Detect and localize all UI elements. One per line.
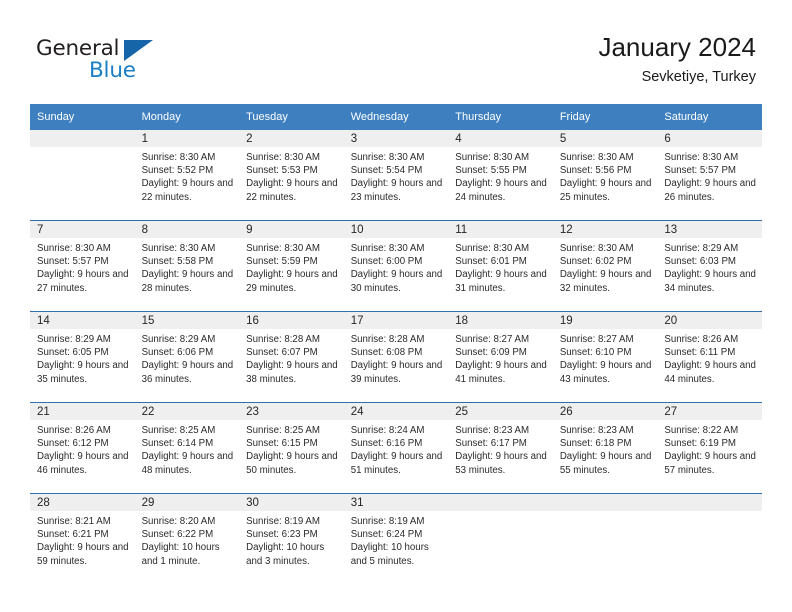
daylight-text: Daylight: 9 hours and 43 minutes.	[560, 359, 652, 385]
calendar-day-cell[interactable]: 23Sunrise: 8:25 AMSunset: 6:15 PMDayligh…	[239, 403, 344, 494]
day-details: Sunrise: 8:22 AMSunset: 6:19 PMDaylight:…	[657, 420, 762, 477]
day-cell-inner: 8Sunrise: 8:30 AMSunset: 5:58 PMDaylight…	[135, 221, 240, 311]
day-cell-inner: 15Sunrise: 8:29 AMSunset: 6:06 PMDayligh…	[135, 312, 240, 402]
sunrise-text: Sunrise: 8:30 AM	[664, 151, 756, 164]
sunset-text: Sunset: 6:22 PM	[142, 528, 234, 541]
daylight-text: Daylight: 9 hours and 26 minutes.	[664, 177, 756, 203]
day-number: 22	[135, 403, 240, 420]
sunrise-text: Sunrise: 8:30 AM	[142, 151, 234, 164]
calendar-week-row: 14Sunrise: 8:29 AMSunset: 6:05 PMDayligh…	[30, 312, 762, 403]
sunrise-text: Sunrise: 8:30 AM	[455, 242, 547, 255]
day-details: Sunrise: 8:30 AMSunset: 5:52 PMDaylight:…	[135, 147, 240, 204]
daylight-text: Daylight: 9 hours and 24 minutes.	[455, 177, 547, 203]
daylight-text: Daylight: 9 hours and 32 minutes.	[560, 268, 652, 294]
sunset-text: Sunset: 5:57 PM	[664, 164, 756, 177]
day-number: 17	[344, 312, 449, 329]
sunset-text: Sunset: 6:05 PM	[37, 346, 129, 359]
calendar-day-cell[interactable]: 18Sunrise: 8:27 AMSunset: 6:09 PMDayligh…	[448, 312, 553, 403]
sunset-text: Sunset: 5:52 PM	[142, 164, 234, 177]
daylight-text: Daylight: 9 hours and 22 minutes.	[142, 177, 234, 203]
sunset-text: Sunset: 6:09 PM	[455, 346, 547, 359]
calendar-day-cell[interactable]: 24Sunrise: 8:24 AMSunset: 6:16 PMDayligh…	[344, 403, 449, 494]
day-cell-inner	[657, 494, 762, 584]
calendar-day-cell[interactable]: 17Sunrise: 8:28 AMSunset: 6:08 PMDayligh…	[344, 312, 449, 403]
calendar-day-cell[interactable]: 29Sunrise: 8:20 AMSunset: 6:22 PMDayligh…	[135, 494, 240, 585]
calendar-day-cell[interactable]: 25Sunrise: 8:23 AMSunset: 6:17 PMDayligh…	[448, 403, 553, 494]
day-cell-inner: 6Sunrise: 8:30 AMSunset: 5:57 PMDaylight…	[657, 130, 762, 220]
day-details: Sunrise: 8:25 AMSunset: 6:15 PMDaylight:…	[239, 420, 344, 477]
calendar-day-cell[interactable]: 9Sunrise: 8:30 AMSunset: 5:59 PMDaylight…	[239, 221, 344, 312]
calendar-week-row: 21Sunrise: 8:26 AMSunset: 6:12 PMDayligh…	[30, 403, 762, 494]
day-cell-inner: 11Sunrise: 8:30 AMSunset: 6:01 PMDayligh…	[448, 221, 553, 311]
sunset-text: Sunset: 6:07 PM	[246, 346, 338, 359]
day-number: 4	[448, 130, 553, 147]
daylight-text: Daylight: 10 hours and 3 minutes.	[246, 541, 338, 567]
calendar-day-cell[interactable]: 6Sunrise: 8:30 AMSunset: 5:57 PMDaylight…	[657, 130, 762, 221]
sunrise-text: Sunrise: 8:28 AM	[351, 333, 443, 346]
day-details: Sunrise: 8:29 AMSunset: 6:05 PMDaylight:…	[30, 329, 135, 386]
sunset-text: Sunset: 6:15 PM	[246, 437, 338, 450]
day-details: Sunrise: 8:25 AMSunset: 6:14 PMDaylight:…	[135, 420, 240, 477]
day-cell-inner: 27Sunrise: 8:22 AMSunset: 6:19 PMDayligh…	[657, 403, 762, 493]
day-cell-inner: 29Sunrise: 8:20 AMSunset: 6:22 PMDayligh…	[135, 494, 240, 584]
day-details: Sunrise: 8:23 AMSunset: 6:18 PMDaylight:…	[553, 420, 658, 477]
day-cell-inner: 21Sunrise: 8:26 AMSunset: 6:12 PMDayligh…	[30, 403, 135, 493]
day-details: Sunrise: 8:30 AMSunset: 6:01 PMDaylight:…	[448, 238, 553, 295]
day-details: Sunrise: 8:30 AMSunset: 5:55 PMDaylight:…	[448, 147, 553, 204]
day-details: Sunrise: 8:27 AMSunset: 6:09 PMDaylight:…	[448, 329, 553, 386]
calendar-day-cell[interactable]: 1Sunrise: 8:30 AMSunset: 5:52 PMDaylight…	[135, 130, 240, 221]
sunrise-text: Sunrise: 8:30 AM	[351, 242, 443, 255]
day-cell-inner: 30Sunrise: 8:19 AMSunset: 6:23 PMDayligh…	[239, 494, 344, 584]
daylight-text: Daylight: 9 hours and 48 minutes.	[142, 450, 234, 476]
sunset-text: Sunset: 6:16 PM	[351, 437, 443, 450]
calendar-day-cell[interactable]: 22Sunrise: 8:25 AMSunset: 6:14 PMDayligh…	[135, 403, 240, 494]
day-details: Sunrise: 8:30 AMSunset: 6:00 PMDaylight:…	[344, 238, 449, 295]
day-details: Sunrise: 8:30 AMSunset: 6:02 PMDaylight:…	[553, 238, 658, 295]
sunrise-text: Sunrise: 8:21 AM	[37, 515, 129, 528]
day-details: Sunrise: 8:30 AMSunset: 5:56 PMDaylight:…	[553, 147, 658, 204]
day-details: Sunrise: 8:30 AMSunset: 5:53 PMDaylight:…	[239, 147, 344, 204]
calendar-day-cell-empty	[553, 494, 658, 585]
calendar-day-cell[interactable]: 31Sunrise: 8:19 AMSunset: 6:24 PMDayligh…	[344, 494, 449, 585]
sunset-text: Sunset: 6:19 PM	[664, 437, 756, 450]
day-cell-inner: 24Sunrise: 8:24 AMSunset: 6:16 PMDayligh…	[344, 403, 449, 493]
day-details: Sunrise: 8:23 AMSunset: 6:17 PMDaylight:…	[448, 420, 553, 477]
daylight-text: Daylight: 9 hours and 50 minutes.	[246, 450, 338, 476]
daylight-text: Daylight: 9 hours and 46 minutes.	[37, 450, 129, 476]
daylight-text: Daylight: 9 hours and 28 minutes.	[142, 268, 234, 294]
weekday-header-wednesday: Wednesday	[344, 104, 449, 130]
day-number	[30, 130, 135, 147]
sunset-text: Sunset: 6:11 PM	[664, 346, 756, 359]
weekday-header-tuesday: Tuesday	[239, 104, 344, 130]
day-details: Sunrise: 8:29 AMSunset: 6:06 PMDaylight:…	[135, 329, 240, 386]
sunset-text: Sunset: 6:17 PM	[455, 437, 547, 450]
day-cell-inner	[553, 494, 658, 584]
calendar-grid: Sunday Monday Tuesday Wednesday Thursday…	[30, 104, 762, 584]
sunset-text: Sunset: 6:06 PM	[142, 346, 234, 359]
sunset-text: Sunset: 6:03 PM	[664, 255, 756, 268]
sunrise-text: Sunrise: 8:25 AM	[246, 424, 338, 437]
day-cell-inner: 25Sunrise: 8:23 AMSunset: 6:17 PMDayligh…	[448, 403, 553, 493]
calendar-day-cell[interactable]: 3Sunrise: 8:30 AMSunset: 5:54 PMDaylight…	[344, 130, 449, 221]
day-number: 8	[135, 221, 240, 238]
day-number	[657, 494, 762, 511]
sunset-text: Sunset: 6:10 PM	[560, 346, 652, 359]
day-cell-inner: 5Sunrise: 8:30 AMSunset: 5:56 PMDaylight…	[553, 130, 658, 220]
daylight-text: Daylight: 9 hours and 53 minutes.	[455, 450, 547, 476]
daylight-text: Daylight: 9 hours and 41 minutes.	[455, 359, 547, 385]
day-cell-inner: 1Sunrise: 8:30 AMSunset: 5:52 PMDaylight…	[135, 130, 240, 220]
sunset-text: Sunset: 5:53 PM	[246, 164, 338, 177]
day-details: Sunrise: 8:30 AMSunset: 5:57 PMDaylight:…	[657, 147, 762, 204]
sunrise-text: Sunrise: 8:30 AM	[351, 151, 443, 164]
sunset-text: Sunset: 6:23 PM	[246, 528, 338, 541]
day-cell-inner: 18Sunrise: 8:27 AMSunset: 6:09 PMDayligh…	[448, 312, 553, 402]
day-number: 29	[135, 494, 240, 511]
day-cell-inner: 31Sunrise: 8:19 AMSunset: 6:24 PMDayligh…	[344, 494, 449, 584]
daylight-text: Daylight: 9 hours and 35 minutes.	[37, 359, 129, 385]
calendar-day-cell[interactable]: 11Sunrise: 8:30 AMSunset: 6:01 PMDayligh…	[448, 221, 553, 312]
daylight-text: Daylight: 9 hours and 29 minutes.	[246, 268, 338, 294]
weekday-header-saturday: Saturday	[657, 104, 762, 130]
calendar-day-cell[interactable]: 27Sunrise: 8:22 AMSunset: 6:19 PMDayligh…	[657, 403, 762, 494]
daylight-text: Daylight: 10 hours and 1 minute.	[142, 541, 234, 567]
day-cell-inner: 28Sunrise: 8:21 AMSunset: 6:21 PMDayligh…	[30, 494, 135, 584]
day-cell-inner: 20Sunrise: 8:26 AMSunset: 6:11 PMDayligh…	[657, 312, 762, 402]
calendar-day-cell-empty	[30, 130, 135, 221]
sunrise-text: Sunrise: 8:30 AM	[37, 242, 129, 255]
day-number: 3	[344, 130, 449, 147]
day-number: 28	[30, 494, 135, 511]
weekday-header-thursday: Thursday	[448, 104, 553, 130]
page-title: January 2024	[598, 31, 756, 63]
calendar-day-cell-empty	[448, 494, 553, 585]
sunrise-text: Sunrise: 8:27 AM	[560, 333, 652, 346]
calendar-header-row: Sunday Monday Tuesday Wednesday Thursday…	[30, 104, 762, 130]
daylight-text: Daylight: 9 hours and 34 minutes.	[664, 268, 756, 294]
calendar-day-cell[interactable]: 5Sunrise: 8:30 AMSunset: 5:56 PMDaylight…	[553, 130, 658, 221]
sunset-text: Sunset: 6:00 PM	[351, 255, 443, 268]
sunrise-text: Sunrise: 8:26 AM	[37, 424, 129, 437]
day-cell-inner: 23Sunrise: 8:25 AMSunset: 6:15 PMDayligh…	[239, 403, 344, 493]
sunrise-text: Sunrise: 8:27 AM	[455, 333, 547, 346]
sunset-text: Sunset: 6:02 PM	[560, 255, 652, 268]
sunrise-text: Sunrise: 8:24 AM	[351, 424, 443, 437]
calendar-day-cell[interactable]: 4Sunrise: 8:30 AMSunset: 5:55 PMDaylight…	[448, 130, 553, 221]
title-block: January 2024 Sevketiye, Turkey	[598, 31, 756, 88]
sunrise-text: Sunrise: 8:30 AM	[246, 151, 338, 164]
day-details: Sunrise: 8:30 AMSunset: 5:58 PMDaylight:…	[135, 238, 240, 295]
day-cell-inner: 7Sunrise: 8:30 AMSunset: 5:57 PMDaylight…	[30, 221, 135, 311]
day-number: 30	[239, 494, 344, 511]
day-cell-inner: 4Sunrise: 8:30 AMSunset: 5:55 PMDaylight…	[448, 130, 553, 220]
sunset-text: Sunset: 6:18 PM	[560, 437, 652, 450]
day-number: 1	[135, 130, 240, 147]
day-cell-inner: 19Sunrise: 8:27 AMSunset: 6:10 PMDayligh…	[553, 312, 658, 402]
day-number: 25	[448, 403, 553, 420]
sunrise-text: Sunrise: 8:28 AM	[246, 333, 338, 346]
day-number: 20	[657, 312, 762, 329]
sunrise-text: Sunrise: 8:25 AM	[142, 424, 234, 437]
day-details: Sunrise: 8:27 AMSunset: 6:10 PMDaylight:…	[553, 329, 658, 386]
sunrise-text: Sunrise: 8:20 AM	[142, 515, 234, 528]
day-details: Sunrise: 8:30 AMSunset: 5:54 PMDaylight:…	[344, 147, 449, 204]
daylight-text: Daylight: 9 hours and 44 minutes.	[664, 359, 756, 385]
daylight-text: Daylight: 9 hours and 27 minutes.	[37, 268, 129, 294]
day-details: Sunrise: 8:19 AMSunset: 6:23 PMDaylight:…	[239, 511, 344, 568]
daylight-text: Daylight: 9 hours and 30 minutes.	[351, 268, 443, 294]
sunset-text: Sunset: 6:24 PM	[351, 528, 443, 541]
calendar-day-cell[interactable]: 10Sunrise: 8:30 AMSunset: 6:00 PMDayligh…	[344, 221, 449, 312]
daylight-text: Daylight: 9 hours and 23 minutes.	[351, 177, 443, 203]
calendar-day-cell[interactable]: 15Sunrise: 8:29 AMSunset: 6:06 PMDayligh…	[135, 312, 240, 403]
weekday-header-friday: Friday	[553, 104, 658, 130]
calendar-week-row: 28Sunrise: 8:21 AMSunset: 6:21 PMDayligh…	[30, 494, 762, 585]
day-cell-inner: 3Sunrise: 8:30 AMSunset: 5:54 PMDaylight…	[344, 130, 449, 220]
weekday-header-monday: Monday	[135, 104, 240, 130]
day-number: 18	[448, 312, 553, 329]
daylight-text: Daylight: 9 hours and 31 minutes.	[455, 268, 547, 294]
sunrise-text: Sunrise: 8:23 AM	[560, 424, 652, 437]
day-cell-inner	[448, 494, 553, 584]
day-number: 27	[657, 403, 762, 420]
day-details: Sunrise: 8:21 AMSunset: 6:21 PMDaylight:…	[30, 511, 135, 568]
sunset-text: Sunset: 6:21 PM	[37, 528, 129, 541]
day-number: 6	[657, 130, 762, 147]
sunrise-text: Sunrise: 8:30 AM	[142, 242, 234, 255]
day-details: Sunrise: 8:26 AMSunset: 6:12 PMDaylight:…	[30, 420, 135, 477]
day-details: Sunrise: 8:29 AMSunset: 6:03 PMDaylight:…	[657, 238, 762, 295]
calendar-day-cell[interactable]: 20Sunrise: 8:26 AMSunset: 6:11 PMDayligh…	[657, 312, 762, 403]
day-cell-inner: 12Sunrise: 8:30 AMSunset: 6:02 PMDayligh…	[553, 221, 658, 311]
general-blue-logo[interactable]: General Blue	[36, 36, 216, 88]
day-cell-inner: 17Sunrise: 8:28 AMSunset: 6:08 PMDayligh…	[344, 312, 449, 402]
day-cell-inner: 22Sunrise: 8:25 AMSunset: 6:14 PMDayligh…	[135, 403, 240, 493]
sunset-text: Sunset: 6:12 PM	[37, 437, 129, 450]
day-details: Sunrise: 8:26 AMSunset: 6:11 PMDaylight:…	[657, 329, 762, 386]
daylight-text: Daylight: 9 hours and 38 minutes.	[246, 359, 338, 385]
calendar-day-cell[interactable]: 26Sunrise: 8:23 AMSunset: 6:18 PMDayligh…	[553, 403, 658, 494]
daylight-text: Daylight: 9 hours and 55 minutes.	[560, 450, 652, 476]
sunset-text: Sunset: 5:56 PM	[560, 164, 652, 177]
day-number: 2	[239, 130, 344, 147]
day-number: 31	[344, 494, 449, 511]
sunrise-text: Sunrise: 8:19 AM	[351, 515, 443, 528]
day-details: Sunrise: 8:28 AMSunset: 6:08 PMDaylight:…	[344, 329, 449, 386]
day-cell-inner: 13Sunrise: 8:29 AMSunset: 6:03 PMDayligh…	[657, 221, 762, 311]
day-cell-inner	[30, 130, 135, 220]
calendar-day-cell[interactable]: 7Sunrise: 8:30 AMSunset: 5:57 PMDaylight…	[30, 221, 135, 312]
calendar-day-cell[interactable]: 30Sunrise: 8:19 AMSunset: 6:23 PMDayligh…	[239, 494, 344, 585]
calendar-day-cell[interactable]: 28Sunrise: 8:21 AMSunset: 6:21 PMDayligh…	[30, 494, 135, 585]
calendar-body: 1Sunrise: 8:30 AMSunset: 5:52 PMDaylight…	[30, 130, 762, 584]
calendar-week-row: 7Sunrise: 8:30 AMSunset: 5:57 PMDaylight…	[30, 221, 762, 312]
calendar-week-row: 1Sunrise: 8:30 AMSunset: 5:52 PMDaylight…	[30, 130, 762, 221]
daylight-text: Daylight: 9 hours and 25 minutes.	[560, 177, 652, 203]
sunset-text: Sunset: 5:59 PM	[246, 255, 338, 268]
day-details: Sunrise: 8:28 AMSunset: 6:07 PMDaylight:…	[239, 329, 344, 386]
sunrise-text: Sunrise: 8:29 AM	[142, 333, 234, 346]
day-cell-inner: 26Sunrise: 8:23 AMSunset: 6:18 PMDayligh…	[553, 403, 658, 493]
daylight-text: Daylight: 9 hours and 59 minutes.	[37, 541, 129, 567]
day-cell-inner: 2Sunrise: 8:30 AMSunset: 5:53 PMDaylight…	[239, 130, 344, 220]
day-cell-inner: 9Sunrise: 8:30 AMSunset: 5:59 PMDaylight…	[239, 221, 344, 311]
sunset-text: Sunset: 6:01 PM	[455, 255, 547, 268]
sunset-text: Sunset: 6:08 PM	[351, 346, 443, 359]
sunset-text: Sunset: 5:57 PM	[37, 255, 129, 268]
day-details: Sunrise: 8:30 AMSunset: 5:57 PMDaylight:…	[30, 238, 135, 295]
day-details: Sunrise: 8:24 AMSunset: 6:16 PMDaylight:…	[344, 420, 449, 477]
day-number: 19	[553, 312, 658, 329]
sunrise-text: Sunrise: 8:30 AM	[560, 242, 652, 255]
day-details: Sunrise: 8:20 AMSunset: 6:22 PMDaylight:…	[135, 511, 240, 568]
day-number: 26	[553, 403, 658, 420]
day-number: 10	[344, 221, 449, 238]
day-number: 16	[239, 312, 344, 329]
sunrise-text: Sunrise: 8:19 AM	[246, 515, 338, 528]
calendar-day-cell[interactable]: 12Sunrise: 8:30 AMSunset: 6:02 PMDayligh…	[553, 221, 658, 312]
brand-name-blue: Blue	[89, 58, 136, 83]
sunset-text: Sunset: 5:54 PM	[351, 164, 443, 177]
sunset-text: Sunset: 5:55 PM	[455, 164, 547, 177]
daylight-text: Daylight: 9 hours and 51 minutes.	[351, 450, 443, 476]
day-number: 24	[344, 403, 449, 420]
day-number: 21	[30, 403, 135, 420]
sunset-text: Sunset: 5:58 PM	[142, 255, 234, 268]
day-details: Sunrise: 8:19 AMSunset: 6:24 PMDaylight:…	[344, 511, 449, 568]
sunrise-text: Sunrise: 8:30 AM	[455, 151, 547, 164]
sunrise-text: Sunrise: 8:30 AM	[246, 242, 338, 255]
sunrise-text: Sunrise: 8:29 AM	[37, 333, 129, 346]
day-cell-inner: 14Sunrise: 8:29 AMSunset: 6:05 PMDayligh…	[30, 312, 135, 402]
day-number	[553, 494, 658, 511]
day-number: 9	[239, 221, 344, 238]
calendar-day-cell[interactable]: 19Sunrise: 8:27 AMSunset: 6:10 PMDayligh…	[553, 312, 658, 403]
calendar-day-cell[interactable]: 21Sunrise: 8:26 AMSunset: 6:12 PMDayligh…	[30, 403, 135, 494]
calendar-day-cell[interactable]: 2Sunrise: 8:30 AMSunset: 5:53 PMDaylight…	[239, 130, 344, 221]
day-number: 13	[657, 221, 762, 238]
daylight-text: Daylight: 10 hours and 5 minutes.	[351, 541, 443, 567]
calendar-page: General Blue January 2024 Sevketiye, Tur…	[0, 0, 792, 612]
day-number: 5	[553, 130, 658, 147]
day-cell-inner: 10Sunrise: 8:30 AMSunset: 6:00 PMDayligh…	[344, 221, 449, 311]
day-number: 14	[30, 312, 135, 329]
calendar-day-cell[interactable]: 13Sunrise: 8:29 AMSunset: 6:03 PMDayligh…	[657, 221, 762, 312]
page-subtitle: Sevketiye, Turkey	[598, 66, 756, 88]
day-details: Sunrise: 8:30 AMSunset: 5:59 PMDaylight:…	[239, 238, 344, 295]
day-number: 11	[448, 221, 553, 238]
daylight-text: Daylight: 9 hours and 36 minutes.	[142, 359, 234, 385]
sunrise-text: Sunrise: 8:26 AM	[664, 333, 756, 346]
daylight-text: Daylight: 9 hours and 39 minutes.	[351, 359, 443, 385]
calendar-day-cell[interactable]: 8Sunrise: 8:30 AMSunset: 5:58 PMDaylight…	[135, 221, 240, 312]
sunset-text: Sunset: 6:14 PM	[142, 437, 234, 450]
page-header: General Blue January 2024 Sevketiye, Tur…	[0, 0, 792, 104]
sunrise-text: Sunrise: 8:30 AM	[560, 151, 652, 164]
sunrise-text: Sunrise: 8:22 AM	[664, 424, 756, 437]
sunrise-text: Sunrise: 8:23 AM	[455, 424, 547, 437]
calendar-day-cell[interactable]: 16Sunrise: 8:28 AMSunset: 6:07 PMDayligh…	[239, 312, 344, 403]
sunrise-text: Sunrise: 8:29 AM	[664, 242, 756, 255]
day-cell-inner: 16Sunrise: 8:28 AMSunset: 6:07 PMDayligh…	[239, 312, 344, 402]
day-number: 12	[553, 221, 658, 238]
weekday-header-sunday: Sunday	[30, 104, 135, 130]
day-number	[448, 494, 553, 511]
daylight-text: Daylight: 9 hours and 22 minutes.	[246, 177, 338, 203]
calendar-day-cell-empty	[657, 494, 762, 585]
day-number: 15	[135, 312, 240, 329]
day-number: 7	[30, 221, 135, 238]
day-number: 23	[239, 403, 344, 420]
daylight-text: Daylight: 9 hours and 57 minutes.	[664, 450, 756, 476]
calendar-day-cell[interactable]: 14Sunrise: 8:29 AMSunset: 6:05 PMDayligh…	[30, 312, 135, 403]
